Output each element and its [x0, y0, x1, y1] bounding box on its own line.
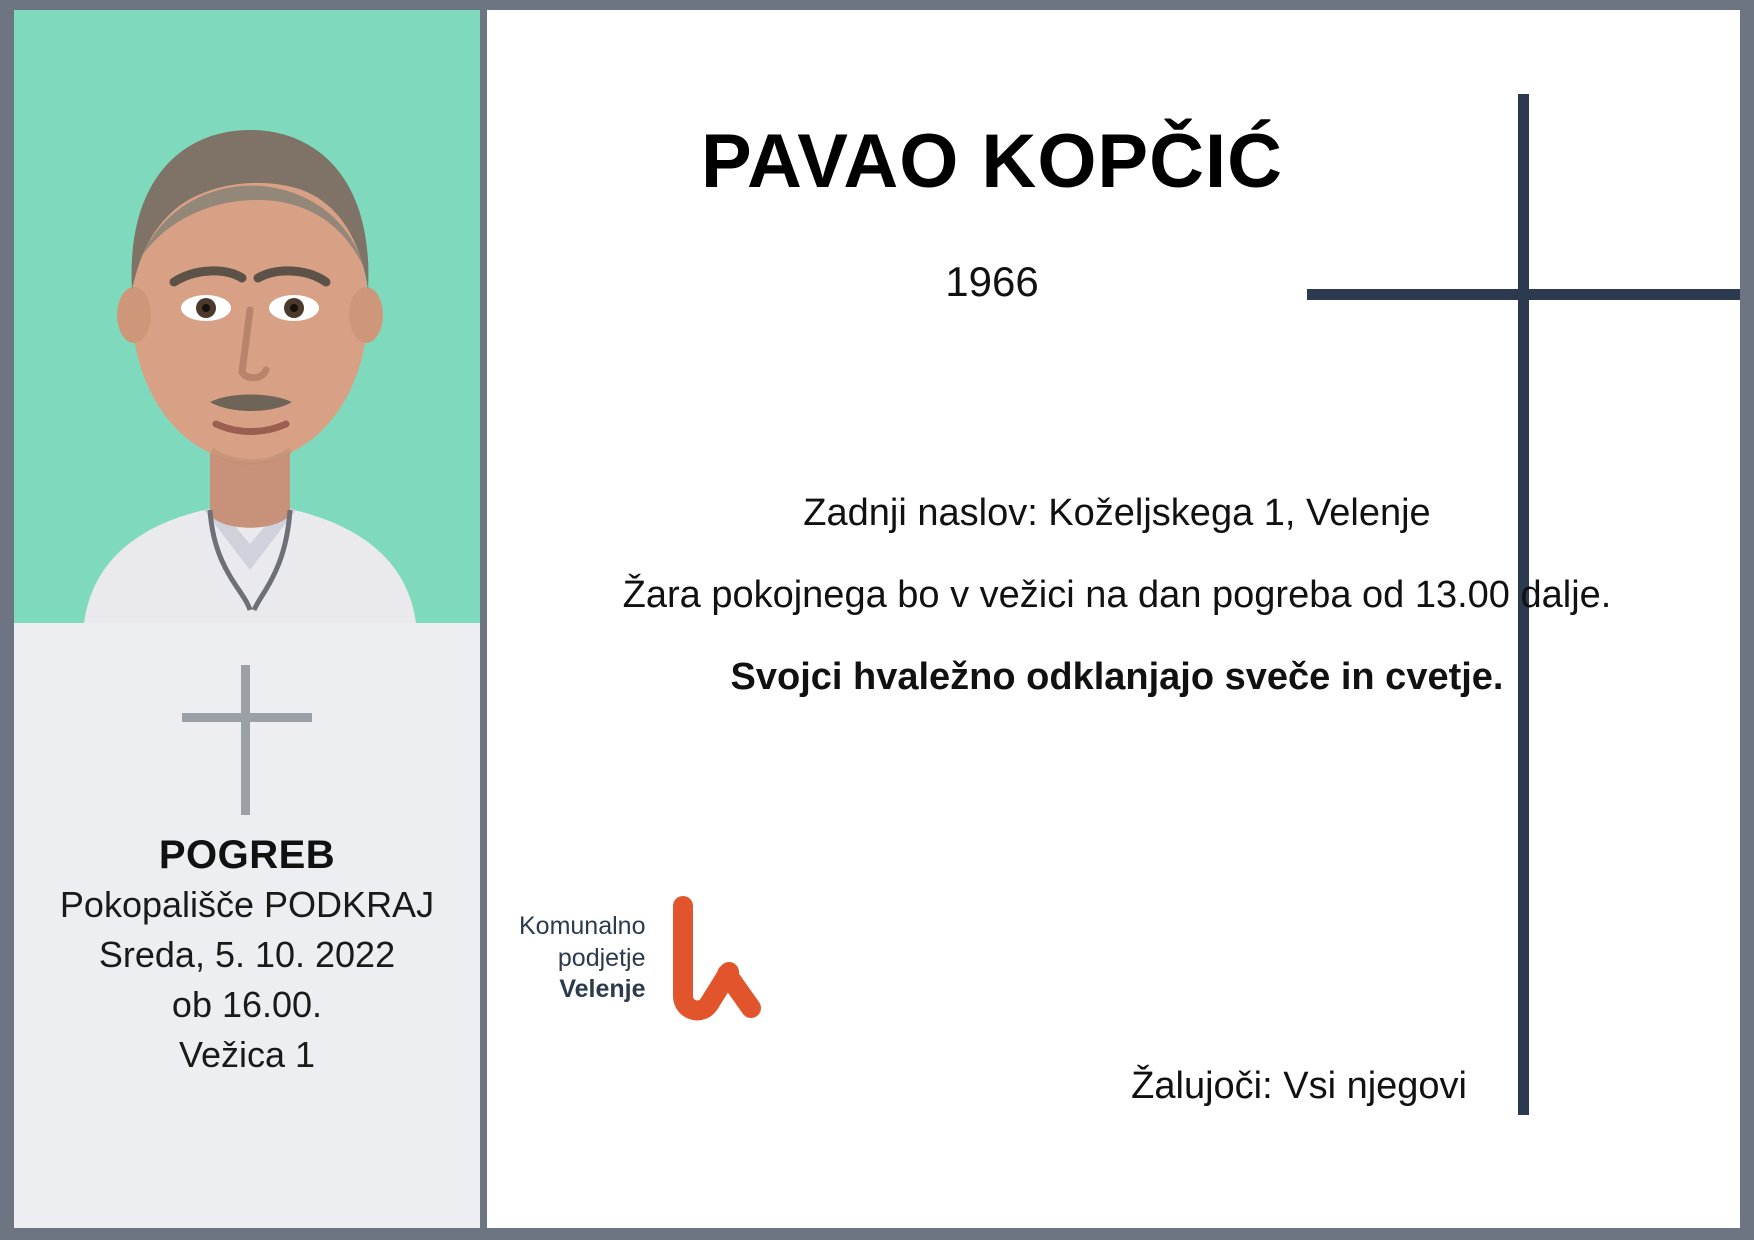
- funeral-time: ob 16.00.: [14, 982, 480, 1028]
- portrait-photo: [14, 10, 480, 623]
- deceased-year: 1966: [487, 258, 1497, 306]
- logo-text: Komunalno podjetje Velenje: [519, 911, 667, 1006]
- urn-notice: Žara pokojnega bo v vežici na dan pogreb…: [547, 570, 1687, 620]
- mourners-line: Žalujoči: Vsi njegovi: [907, 1065, 1467, 1108]
- obituary-notice: POGREB Pokopališče PODKRAJ Sreda, 5. 10.…: [0, 0, 1754, 1240]
- last-address: Zadnji naslov: Koželjskega 1, Velenje: [547, 488, 1687, 538]
- notice-body: Zadnji naslov: Koželjskega 1, Velenje Ža…: [547, 488, 1687, 702]
- logo-line-2: podjetje: [519, 943, 645, 975]
- funeral-details: POGREB Pokopališče PODKRAJ Sreda, 5. 10.…: [14, 623, 480, 1228]
- company-logo: Komunalno podjetje Velenje: [519, 896, 763, 1021]
- right-panel: PAVAO KOPČIĆ 1966 Zadnji naslov: Koželjs…: [487, 10, 1740, 1228]
- logo-line-1: Komunalno: [519, 911, 645, 943]
- flowers-notice: Svojci hvaležno odklanjajo sveče in cvet…: [547, 652, 1687, 702]
- funeral-chapel: Vežica 1: [14, 1032, 480, 1078]
- funeral-cemetery: Pokopališče PODKRAJ: [14, 882, 480, 928]
- kp-velenje-mark-icon: [667, 896, 763, 1021]
- deceased-name: PAVAO KOPČIĆ: [487, 118, 1497, 205]
- cross-icon: [172, 665, 322, 815]
- funeral-date: Sreda, 5. 10. 2022: [14, 932, 480, 978]
- left-panel: POGREB Pokopališče PODKRAJ Sreda, 5. 10.…: [14, 10, 480, 1228]
- funeral-heading: POGREB: [14, 833, 480, 878]
- logo-line-3: Velenje: [519, 974, 645, 1006]
